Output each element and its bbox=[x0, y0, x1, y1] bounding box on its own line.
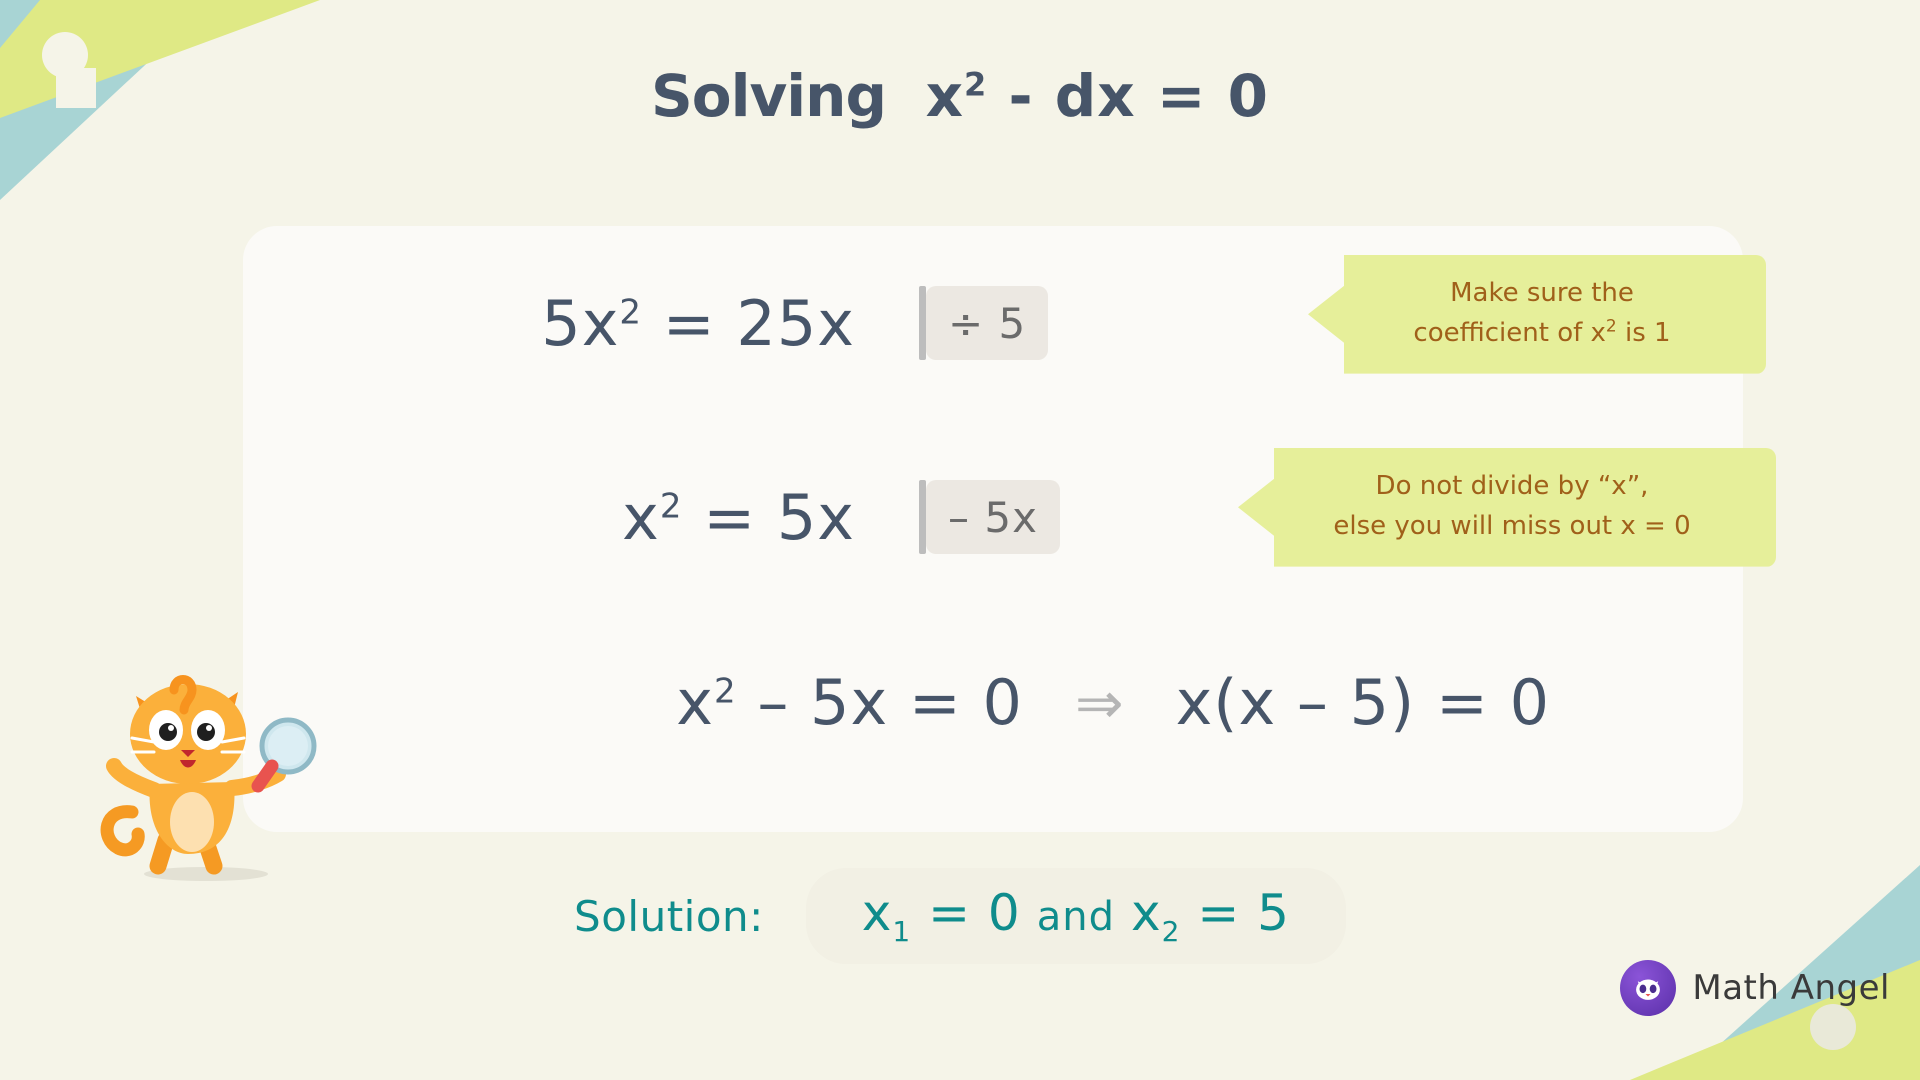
step-2-callout-line-2: else you will miss out x = 0 bbox=[1278, 506, 1746, 546]
step-2-callout: Do not divide by “x”, else you will miss… bbox=[1238, 448, 1776, 567]
implies-arrow-icon: ⇒ bbox=[1075, 674, 1124, 732]
solution-values: x1 = 0andx2 = 5 bbox=[806, 868, 1346, 964]
solution-row: Solution: x1 = 0andx2 = 5 bbox=[0, 868, 1920, 964]
cat-angel-icon bbox=[1620, 960, 1676, 1016]
step-1-callout: Make sure the coefficient of x2 is 1 bbox=[1308, 255, 1766, 374]
solution-label: Solution: bbox=[574, 892, 764, 941]
step-2-operation-label: – 5x bbox=[926, 480, 1060, 554]
step-2-operation: – 5x bbox=[919, 480, 1060, 554]
step-1-operation: ÷ 5 bbox=[919, 286, 1048, 360]
step-row-3: x2 – 5x = 0 ⇒ x(x – 5) = 0 bbox=[243, 666, 1550, 739]
operation-bar-icon bbox=[919, 480, 926, 554]
step-row-1: 5x2 = 25x ÷ 5 bbox=[243, 286, 1048, 360]
step-1-operation-label: ÷ 5 bbox=[926, 286, 1048, 360]
step-row-2: x2 = 5x – 5x bbox=[243, 480, 1060, 554]
page-title-expression: x2 - dx = 0 bbox=[926, 62, 1269, 130]
page-title-word: Solving bbox=[651, 62, 886, 130]
step-1-callout-line-1: Make sure the bbox=[1348, 273, 1736, 313]
step-2-equation: x2 = 5x bbox=[243, 481, 873, 554]
step-1-equation: 5x2 = 25x bbox=[243, 287, 873, 360]
operation-bar-icon bbox=[919, 286, 926, 360]
brand-logo: Math Angel bbox=[1620, 960, 1890, 1016]
step-3-equation-left: x2 – 5x = 0 bbox=[243, 666, 1023, 739]
page-title: Solving x2 - dx = 0 bbox=[0, 62, 1920, 130]
infographic-canvas: Solving x2 - dx = 0 5x2 = 25x ÷ 5 Make s… bbox=[0, 0, 1920, 1080]
cat-with-magnifier-icon bbox=[88, 662, 328, 882]
step-2-callout-line-1: Do not divide by “x”, bbox=[1278, 466, 1746, 506]
step-3-equation-right: x(x – 5) = 0 bbox=[1176, 666, 1550, 739]
brand-name: Math Angel bbox=[1692, 968, 1890, 1008]
step-1-callout-line-2: coefficient of x2 is 1 bbox=[1348, 313, 1736, 353]
